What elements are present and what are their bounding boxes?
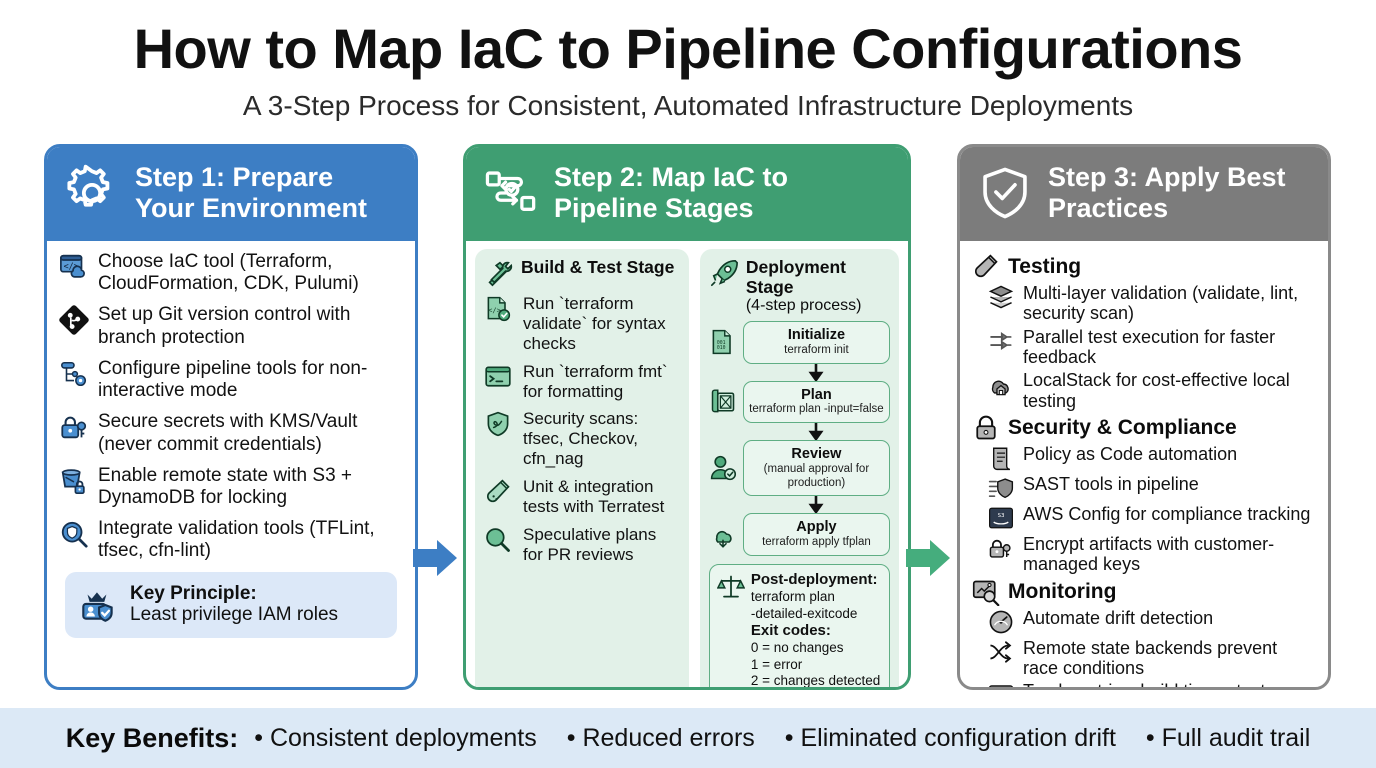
post-deployment-text: Post-deployment: terraform plan -detaile… xyxy=(751,571,880,690)
test-tube-icon xyxy=(972,253,1000,281)
list-item: Multi-layer validation (validate, lint, … xyxy=(988,283,1316,324)
flow-title: Plan xyxy=(748,387,885,404)
list-item: Unit & integration tests with Terratest xyxy=(484,477,680,517)
list-item-label: Choose IaC tool (Terraform, CloudFormati… xyxy=(98,251,403,295)
list-item-label: Parallel test execution for faster feedb… xyxy=(1023,327,1316,368)
crossing-arrows-icon xyxy=(988,639,1014,665)
list-item: SAST tools in pipeline xyxy=(988,474,1316,501)
benefit-item: • Full audit trail xyxy=(1146,724,1310,753)
pipeline-gear-icon xyxy=(59,359,89,389)
gear-icon xyxy=(63,164,121,222)
key-principle-value: Least privilege IAM roles xyxy=(130,604,338,627)
flow-title: Initialize xyxy=(748,327,885,344)
localstack-cloud-icon xyxy=(988,371,1014,397)
arrow-step1-to-step2 xyxy=(413,537,461,579)
arrow-step2-to-step3 xyxy=(906,537,954,579)
aws-config-icon: S3 xyxy=(988,505,1014,531)
flow-command: terraform init xyxy=(748,344,885,358)
list-item-label: Enable remote state with S3 + DynamoDB f… xyxy=(98,465,403,509)
list-item-label: Unit & integration tests with Terratest xyxy=(523,477,680,517)
flow-box-apply: Apply terraform apply tfplan xyxy=(743,513,890,555)
page-subtitle: A 3-Step Process for Consistent, Automat… xyxy=(0,90,1376,122)
list-item: LocalStack for cost-effective local test… xyxy=(988,370,1316,411)
list-item-label: Security scans: tfsec, Checkov, cfn_nag xyxy=(523,409,680,469)
step1-card: Step 1: Prepare Your Environment </> xyxy=(44,144,418,690)
list-item-label: Encrypt artifacts with customer-managed … xyxy=(1023,534,1316,575)
list-item-label: Run `terraform fmt` for formatting xyxy=(523,362,680,402)
code-check-icon: </> xyxy=(484,295,514,325)
git-branch-icon xyxy=(59,305,89,335)
deployment-step: 001 010 Initialize terraform init xyxy=(709,321,890,363)
step2-title: Step 2: Map IaC to Pipeline Stages xyxy=(554,162,892,224)
gauge-icon xyxy=(988,609,1014,635)
list-item: Enable remote state with S3 + DynamoDB f… xyxy=(59,465,403,509)
post-deployment-title: Post-deployment: xyxy=(751,571,878,588)
test-tube-icon xyxy=(484,478,514,508)
list-item: </> Run `terraform validate` for syntax … xyxy=(484,294,680,354)
list-item-label: Set up Git version control with branch p… xyxy=(98,304,403,348)
padlock-icon xyxy=(972,414,1000,442)
list-item-label: Multi-layer validation (validate, lint, … xyxy=(1023,283,1316,324)
list-item-label: Speculative plans for PR reviews xyxy=(523,525,680,565)
key-principle-label: Key Principle: xyxy=(130,583,257,604)
flow-arrow-icon xyxy=(743,364,890,381)
shield-scan-icon xyxy=(484,410,514,440)
list-item-label: Integrate validation tools (TFLint, tfse… xyxy=(98,518,403,562)
deployment-title-text: Deployment Stage xyxy=(746,257,846,297)
key-benefits-label: Key Benefits: xyxy=(66,723,239,754)
code-cloud-icon: </> xyxy=(59,252,89,282)
deployment-step: Review (manual approval for production) xyxy=(709,440,890,496)
post-deployment-box: Post-deployment: terraform plan -detaile… xyxy=(709,564,890,690)
step1-header: Step 1: Prepare Your Environment xyxy=(47,147,415,241)
list-item: Speculative plans for PR reviews xyxy=(484,525,680,565)
list-item: Run `terraform fmt` for formatting xyxy=(484,362,680,402)
flow-title: Review xyxy=(748,446,885,463)
flow-command: (manual approval for production) xyxy=(748,463,885,491)
step3-body: Testing Multi-layer validation (validate… xyxy=(960,241,1328,690)
list-item: Security scans: tfsec, Checkov, cfn_nag xyxy=(484,409,680,469)
svg-text:001: 001 xyxy=(717,340,726,346)
list-item: Configure pipeline tools for non-interac… xyxy=(59,358,403,402)
post-deployment-cmd1: terraform plan xyxy=(751,589,880,605)
metrics-chart-icon xyxy=(988,682,1014,690)
testing-list: Multi-layer validation (validate, lint, … xyxy=(988,283,1316,411)
step2-header: Step 2: Map IaC to Pipeline Stages xyxy=(466,147,908,241)
list-item-label: SAST tools in pipeline xyxy=(1023,474,1199,494)
list-item-label: Policy as Code automation xyxy=(1023,444,1237,464)
list-item: Encrypt artifacts with customer-managed … xyxy=(988,534,1316,575)
exit-code-2: 2 = changes detected xyxy=(751,673,880,689)
step1-list: </> Choose IaC tool (Terraform, CloudFor… xyxy=(59,251,403,563)
config-file-icon: 001 010 xyxy=(709,328,737,356)
exit-code-0: 0 = no changes xyxy=(751,640,880,656)
hammer-wrench-icon xyxy=(484,258,514,288)
benefit-item: • Eliminated configuration drift xyxy=(785,724,1116,753)
infographic-page: How to Map IaC to Pipeline Configuration… xyxy=(0,0,1376,768)
exit-codes-label: Exit codes: xyxy=(751,622,831,639)
flow-arrow-icon xyxy=(743,496,890,513)
svg-text:S3: S3 xyxy=(998,513,1005,519)
step3-title: Step 3: Apply Best Practices xyxy=(1048,162,1312,224)
list-item-label: Run `terraform validate` for syntax chec… xyxy=(523,294,680,354)
title-block: How to Map IaC to Pipeline Configuration… xyxy=(0,0,1376,122)
lock-key-icon xyxy=(59,412,89,442)
deployment-pane: Deployment Stage (4-step process) 001 01… xyxy=(700,249,899,690)
list-item-label: LocalStack for cost-effective local test… xyxy=(1023,370,1316,411)
step3-header: Step 3: Apply Best Practices xyxy=(960,147,1328,241)
flow-arrow-icon xyxy=(743,423,890,440)
build-test-header: Build & Test Stage xyxy=(484,258,680,288)
deployment-step: Plan terraform plan -input=false xyxy=(709,381,890,423)
scroll-policy-icon xyxy=(988,445,1014,471)
deployment-subtitle: (4-step process) xyxy=(746,297,890,315)
deployment-header: Deployment Stage (4-step process) xyxy=(709,258,890,315)
list-item: Secure secrets with KMS/Vault (never com… xyxy=(59,411,403,455)
sast-shield-icon xyxy=(988,475,1014,501)
list-item: S3 AWS Config for compliance tracking xyxy=(988,504,1316,531)
section-header-testing: Testing xyxy=(972,253,1316,281)
deployment-step: Apply terraform apply tfplan xyxy=(709,513,890,555)
security-list: Policy as Code automation SAST tools in … xyxy=(988,444,1316,575)
deployment-title: Deployment Stage (4-step process) xyxy=(746,258,890,315)
flow-command: terraform plan -input=false xyxy=(748,403,885,417)
key-principle-box: Key Principle: Least privilege IAM roles xyxy=(65,572,397,639)
step1-body: </> Choose IaC tool (Terraform, CloudFor… xyxy=(47,241,415,646)
user-check-icon xyxy=(709,454,737,482)
flow-box-plan: Plan terraform plan -input=false xyxy=(743,381,890,423)
svg-text:010: 010 xyxy=(717,345,726,351)
flow-box-initialize: Initialize terraform init xyxy=(743,321,890,363)
flow-map-icon xyxy=(482,164,540,222)
list-item: Automate drift detection xyxy=(988,608,1316,635)
step2-card: Step 2: Map IaC to Pipeline Stages Bu xyxy=(463,144,911,690)
build-test-pane: Build & Test Stage </> xyxy=(475,249,689,690)
build-test-title: Build & Test Stage xyxy=(521,258,674,278)
page-title: How to Map IaC to Pipeline Configuration… xyxy=(0,18,1376,80)
blueprint-icon xyxy=(709,388,737,416)
magnifier-check-icon xyxy=(59,519,89,549)
list-item: Policy as Code automation xyxy=(988,444,1316,471)
list-item-label: Configure pipeline tools for non-interac… xyxy=(98,358,403,402)
list-item: Remote state backends prevent race condi… xyxy=(988,638,1316,679)
key-benefits-bar: Key Benefits: • Consistent deployments •… xyxy=(0,708,1376,768)
lock-key-icon xyxy=(988,535,1014,561)
list-item: Set up Git version control with branch p… xyxy=(59,304,403,348)
terminal-icon xyxy=(484,363,514,393)
list-item-label: AWS Config for compliance tracking xyxy=(1023,504,1310,524)
exit-code-1: 1 = error xyxy=(751,657,880,673)
key-principle-text: Key Principle: Least privilege IAM roles xyxy=(130,583,338,628)
list-item-label: Remote state backends prevent race condi… xyxy=(1023,638,1316,679)
post-deployment-cmd2: -detailed-exitcode xyxy=(751,606,880,622)
flow-box-review: Review (manual approval for production) xyxy=(743,440,890,496)
bucket-lock-icon xyxy=(59,466,89,496)
list-item: </> Choose IaC tool (Terraform, CloudFor… xyxy=(59,251,403,295)
section-header-monitoring: Monitoring xyxy=(972,578,1316,606)
section-title: Monitoring xyxy=(1008,580,1116,604)
benefit-item: • Consistent deployments xyxy=(254,724,537,753)
benefit-item: • Reduced errors xyxy=(567,724,755,753)
monitor-magnifier-icon xyxy=(972,578,1000,606)
section-title: Testing xyxy=(1008,255,1081,279)
section-header-security: Security & Compliance xyxy=(972,414,1316,442)
scales-icon xyxy=(717,573,745,601)
flow-title: Apply xyxy=(748,519,885,536)
list-item: Integrate validation tools (TFLint, tfse… xyxy=(59,518,403,562)
list-item-label: Track metrics: build times, test coverag… xyxy=(1023,681,1316,690)
monitoring-list: Automate drift detection Remote state ba… xyxy=(988,608,1316,690)
list-item: Parallel test execution for faster feedb… xyxy=(988,327,1316,368)
section-title: Security & Compliance xyxy=(1008,416,1237,440)
flow-command: terraform apply tfplan xyxy=(748,536,885,550)
crown-shield-user-icon xyxy=(77,584,119,626)
rocket-icon xyxy=(709,258,739,288)
magnifier-icon xyxy=(484,526,514,556)
step2-panes: Build & Test Stage </> xyxy=(466,241,908,690)
build-test-list: </> Run `terraform validate` for syntax … xyxy=(484,294,680,565)
cloud-download-icon xyxy=(709,521,737,549)
list-item-label: Secure secrets with KMS/Vault (never com… xyxy=(98,411,403,455)
step1-title: Step 1: Prepare Your Environment xyxy=(135,162,399,224)
shield-check-icon xyxy=(976,164,1034,222)
list-item-label: Automate drift detection xyxy=(1023,608,1213,628)
steps-columns: Step 1: Prepare Your Environment </> xyxy=(0,144,1376,692)
list-item: Track metrics: build times, test coverag… xyxy=(988,681,1316,690)
parallel-arrows-icon xyxy=(988,328,1014,354)
step3-card: Step 3: Apply Best Practices Testing xyxy=(957,144,1331,690)
layers-icon xyxy=(988,284,1014,310)
